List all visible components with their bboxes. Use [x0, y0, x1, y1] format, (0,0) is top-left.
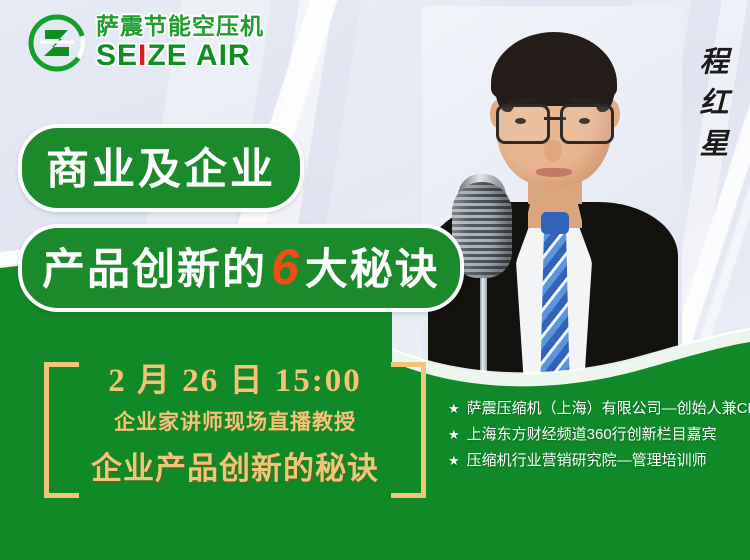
headline-line-2-before: 产品创新的	[42, 246, 267, 294]
sz-monogram-icon	[28, 14, 86, 72]
credentials-list: ★ 萨震压缩机（上海）有限公司—创始人兼CEO ★ 上海东方财经频道360行创新…	[448, 396, 750, 474]
brand-logo: 萨震节能空压机 SEIZE AIR	[28, 14, 264, 72]
promo-poster: 萨震节能空压机 SEIZE AIR 商业及企业 产品创新的6大秘诀 程红星 2 …	[0, 0, 750, 560]
headline-line-2: 产品创新的6大秘诀	[18, 224, 464, 312]
list-item: ★ 压缩机行业营销研究院—管理培训师	[448, 448, 750, 474]
list-item: ★ 上海东方财经频道360行创新栏目嘉宾	[448, 422, 750, 448]
brand-name-en-part1: SE	[96, 39, 138, 72]
promo-subtitle: 企业家讲师现场直播教授	[90, 406, 380, 436]
bracket-right	[391, 362, 426, 498]
speaker-name-calligraphy: 程红星	[690, 46, 732, 169]
brand-name-en-part2: ZE AIR	[147, 39, 250, 72]
headline-line-2-after: 大秘诀	[305, 246, 440, 294]
bracket-left	[44, 362, 79, 498]
brand-logo-text: 萨震节能空压机 SEIZE AIR	[96, 15, 264, 71]
credential-text: 上海东方财经频道360行创新栏目嘉宾	[467, 422, 717, 448]
headline: 商业及企业 产品创新的6大秘诀	[18, 124, 750, 312]
brand-name-cn: 萨震节能空压机	[96, 15, 264, 38]
star-icon: ★	[448, 448, 460, 474]
brand-name-en-highlight: I	[138, 39, 147, 72]
promo-main-title: 企业产品创新的秘诀	[90, 443, 380, 488]
credential-text: 萨震压缩机（上海）有限公司—创始人兼CEO	[467, 396, 750, 422]
credential-text: 压缩机行业营销研究院—管理培训师	[467, 448, 707, 474]
list-item: ★ 萨震压缩机（上海）有限公司—创始人兼CEO	[448, 396, 750, 422]
promo-date-time: 2 月 26 日 15:00	[90, 362, 380, 401]
promo-text: 2 月 26 日 15:00 企业家讲师现场直播教授 企业产品创新的秘诀	[90, 362, 380, 488]
headline-number: 6	[267, 239, 305, 295]
brand-name-en: SEIZE AIR	[96, 41, 264, 71]
star-icon: ★	[448, 422, 460, 448]
headline-line-1: 商业及企业	[18, 124, 304, 212]
promo-bracket-block: 2 月 26 日 15:00 企业家讲师现场直播教授 企业产品创新的秘诀	[44, 362, 426, 488]
star-icon: ★	[448, 396, 460, 422]
